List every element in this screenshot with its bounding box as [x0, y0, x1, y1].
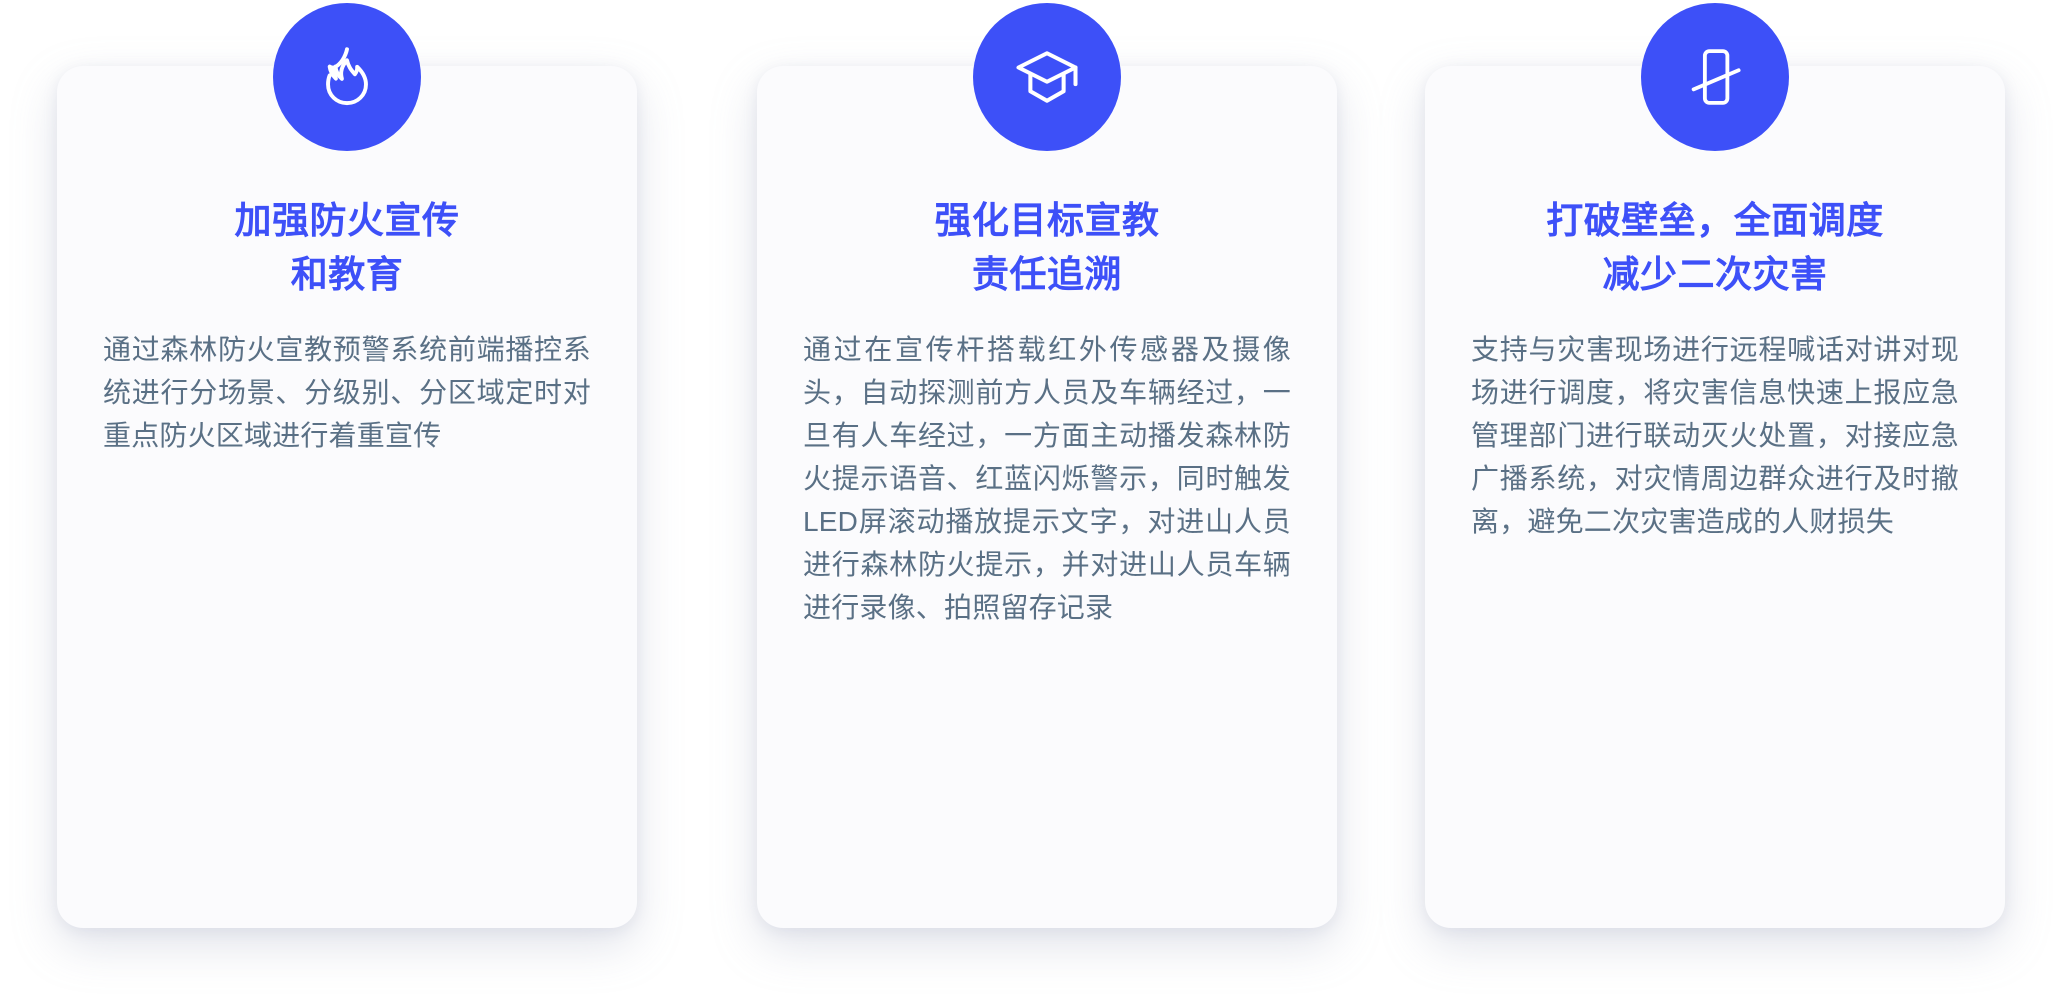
card-title: 打破壁垒，全面调度 减少二次灾害	[1425, 194, 2005, 302]
flame-icon	[273, 3, 421, 151]
card-title: 强化目标宣教 责任追溯	[757, 194, 1337, 302]
feature-card-break-barriers[interactable]: 打破壁垒，全面调度 减少二次灾害 支持与灾害现场进行远程喊话对讲对现场进行调度，…	[1425, 66, 2005, 928]
card-body-text: 通过森林防火宣教预警系统前端播控系统进行分场景、分级别、分区域定时对重点防火区域…	[103, 328, 591, 457]
card-body-text: 支持与灾害现场进行远程喊话对讲对现场进行调度，将灾害信息快速上报应急管理部门进行…	[1471, 328, 1959, 543]
feature-cards-page: 加强防火宣传 和教育 通过森林防火宣教预警系统前端播控系统进行分场景、分级别、分…	[0, 0, 2057, 1000]
graduation-cap-icon	[973, 3, 1121, 151]
feature-card-target-education[interactable]: 强化目标宣教 责任追溯 通过在宣传杆搭载红外传感器及摄像头，自动探测前方人员及车…	[757, 66, 1337, 928]
feature-card-fire-publicity[interactable]: 加强防火宣传 和教育 通过森林防火宣教预警系统前端播控系统进行分场景、分级别、分…	[57, 66, 637, 928]
barrier-break-icon	[1641, 3, 1789, 151]
card-title: 加强防火宣传 和教育	[57, 194, 637, 302]
feature-cards-row: 加强防火宣传 和教育 通过森林防火宣教预警系统前端播控系统进行分场景、分级别、分…	[0, 0, 2057, 1000]
card-body-text: 通过在宣传杆搭载红外传感器及摄像头，自动探测前方人员及车辆经过，一旦有人车经过，…	[803, 328, 1291, 629]
